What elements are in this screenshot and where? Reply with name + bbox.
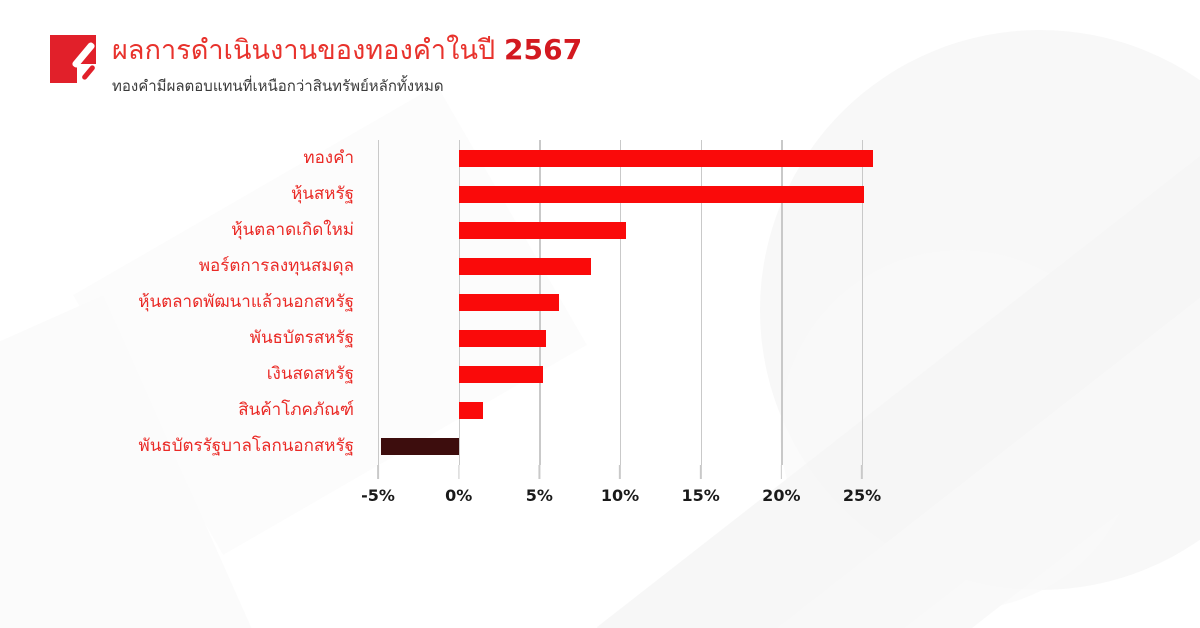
category-label: ทองคำ (303, 140, 354, 176)
tick-stem (861, 465, 862, 479)
tick-stem (377, 465, 378, 479)
tick-stem (700, 465, 701, 479)
bar (459, 150, 874, 167)
x-axis-tick-label: 5% (526, 486, 553, 505)
bar (459, 366, 543, 383)
bar (459, 402, 483, 419)
tick-stem (539, 465, 540, 479)
bar (459, 330, 546, 347)
category-label: หุ้นตลาดพัฒนาแล้วนอกสหรัฐ (138, 284, 354, 320)
category-label: หุ้นสหรัฐ (291, 176, 354, 212)
category-label: พันธบัตรสหรัฐ (250, 320, 354, 356)
category-label: เงินสดสหรัฐ (267, 356, 354, 392)
x-axis-tick-label: 20% (762, 486, 800, 505)
bar-row: พันธบัตรรัฐบาลโลกนอกสหรัฐ (378, 428, 862, 464)
bar (459, 222, 627, 239)
x-axis-tick: -5% (361, 465, 395, 505)
category-label: หุ้นตลาดเกิดใหม่ (231, 212, 354, 248)
bar-row: หุ้นตลาดพัฒนาแล้วนอกสหรัฐ (378, 284, 862, 320)
bar-rows: ทองคำหุ้นสหรัฐหุ้นตลาดเกิดใหม่พอร์ตการลง… (378, 140, 862, 465)
bar-row: พอร์ตการลงทุนสมดุล (378, 248, 862, 284)
tick-stem (458, 465, 459, 479)
x-axis-tick-label: 10% (601, 486, 639, 505)
category-label: พันธบัตรรัฐบาลโลกนอกสหรัฐ (139, 428, 355, 464)
bar (459, 186, 864, 203)
bar-row: สินค้าโภคภัณฑ์ (378, 392, 862, 428)
page-title-year: 2567 (504, 33, 582, 66)
page-title: ผลการดำเนินงานของทองคำในปี 2567 (112, 33, 582, 68)
plot-area: ทองคำหุ้นสหรัฐหุ้นตลาดเกิดใหม่พอร์ตการลง… (378, 140, 862, 465)
x-axis-tick: 5% (526, 465, 553, 505)
bar (459, 294, 559, 311)
bar (381, 438, 458, 455)
tick-stem (619, 465, 620, 479)
x-axis-tick-label: -5% (361, 486, 395, 505)
x-axis-tick: 20% (762, 465, 800, 505)
x-axis-tick: 0% (445, 465, 472, 505)
x-axis-tick: 15% (682, 465, 720, 505)
bar-chart: ทองคำหุ้นสหรัฐหุ้นตลาดเกิดใหม่พอร์ตการลง… (0, 140, 1200, 490)
category-label: สินค้าโภคภัณฑ์ (238, 392, 354, 428)
bar-row: หุ้นตลาดเกิดใหม่ (378, 212, 862, 248)
page-title-text: ผลการดำเนินงานของทองคำในปี (112, 35, 504, 66)
bar (459, 258, 591, 275)
bar-row: ทองคำ (378, 140, 862, 176)
document-pen-icon (50, 35, 96, 83)
bar-row: หุ้นสหรัฐ (378, 176, 862, 212)
page-subtitle: ทองคำมีผลตอบแทนที่เหนือกว่าสินทรัพย์หลัก… (112, 76, 582, 96)
chart-header: ผลการดำเนินงานของทองคำในปี 2567 ทองคำมีผ… (50, 33, 582, 96)
x-axis-tick-label: 0% (445, 486, 472, 505)
category-label: พอร์ตการลงทุนสมดุล (199, 248, 354, 284)
x-axis-tick: 25% (843, 465, 881, 505)
x-axis: -5%0%5%10%15%20%25% (378, 465, 862, 505)
x-axis-tick-label: 25% (843, 486, 881, 505)
x-axis-tick: 10% (601, 465, 639, 505)
tick-stem (781, 465, 782, 479)
bar-row: เงินสดสหรัฐ (378, 356, 862, 392)
bar-row: พันธบัตรสหรัฐ (378, 320, 862, 356)
x-axis-tick-label: 15% (682, 486, 720, 505)
